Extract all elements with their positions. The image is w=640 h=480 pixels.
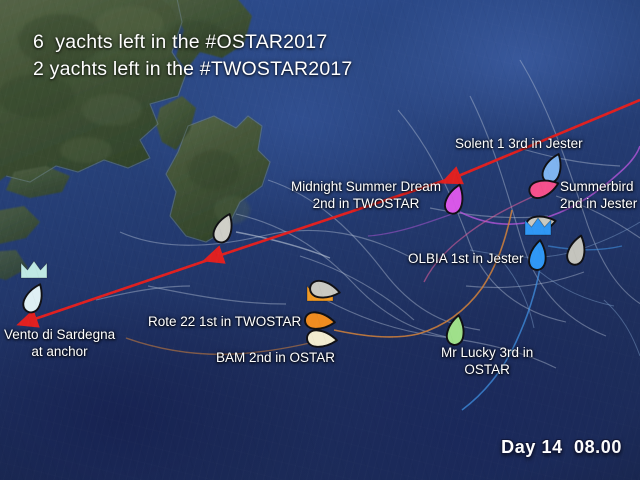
race-tracker-screenshot: 6 yachts left in the #OSTAR2017 2 yachts… xyxy=(0,0,640,480)
water-texture xyxy=(0,0,640,480)
